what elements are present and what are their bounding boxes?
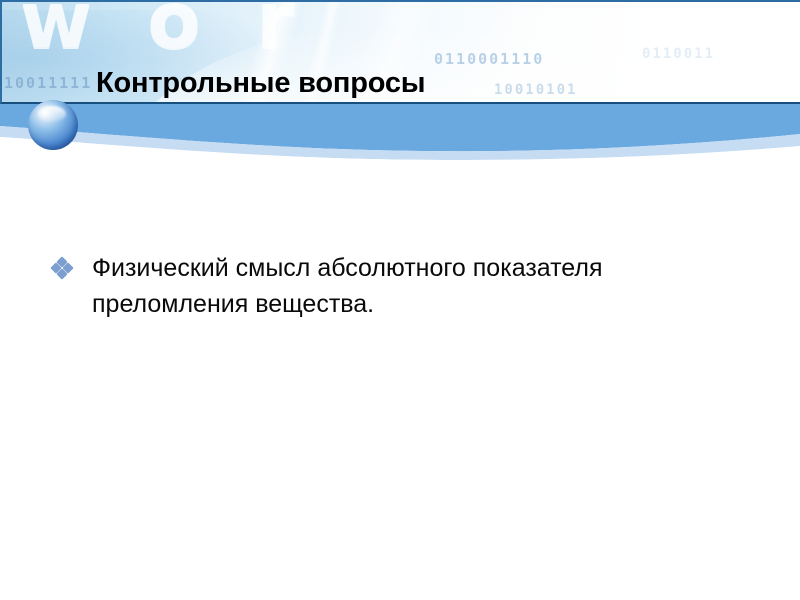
presentation-slide: w o r 10011111 0110001110 10010101 01100…	[0, 0, 800, 600]
binary-decoration-4: 0110011	[642, 46, 715, 62]
list-item: Физический смысл абсолютного показателя …	[0, 250, 800, 322]
binary-decoration-3: 10010101	[494, 82, 577, 98]
slide-content-area: Физический смысл абсолютного показателя …	[0, 250, 800, 322]
binary-decoration-1: 10011111	[4, 74, 92, 92]
wave-graphic	[0, 104, 800, 160]
diamond-cluster-bullet-icon	[52, 258, 74, 284]
binary-decoration-2: 0110001110	[434, 50, 544, 68]
slide-header-banner: w o r 10011111 0110001110 10010101 01100…	[0, 0, 800, 104]
header-wave-band	[0, 104, 800, 160]
sphere-highlight	[38, 106, 66, 122]
page-title: Контрольные вопросы	[96, 66, 425, 100]
header-light-streak-4	[426, 0, 637, 104]
header-light-streak-5	[569, 0, 786, 104]
bullet-text: Физический смысл абсолютного показателя …	[74, 250, 712, 322]
decorative-sphere	[28, 100, 78, 150]
header-watermark-text: w o r	[20, 0, 308, 66]
